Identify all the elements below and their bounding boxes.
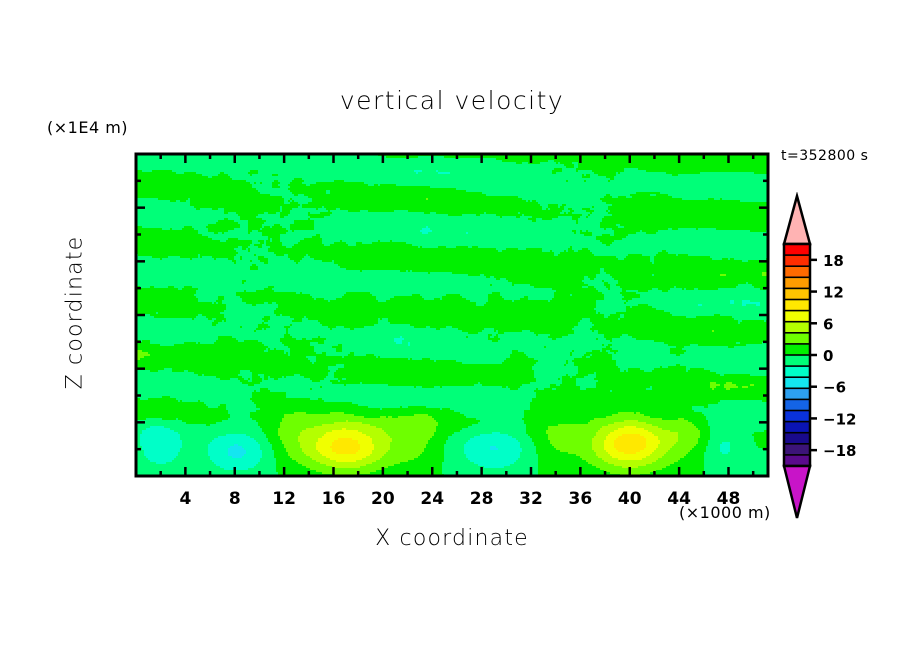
colorbar-tick-label: −6 [823, 379, 846, 397]
x-tick-label: 44 [667, 489, 691, 504]
x-tick-label: 32 [519, 489, 543, 504]
x-axis-unit-label: (×1000 m) [679, 503, 771, 522]
plot-axes: 481216202428323640444812345 [126, 144, 806, 504]
x-tick-label: 48 [717, 489, 741, 504]
x-axis-title: X coordinate [136, 526, 768, 551]
chart-title: vertical velocity [0, 86, 904, 115]
x-tick-label: 8 [229, 489, 241, 504]
colorbar-tick-label: 0 [823, 347, 833, 365]
x-tick-label: 28 [470, 489, 494, 504]
x-tick-label: 4 [179, 489, 191, 504]
figure-root: vertical velocity (×1E4 m) (×1000 m) t=3… [0, 0, 904, 654]
colorbar-tick-label: 6 [823, 315, 833, 333]
colorbar-tick-label: 12 [823, 284, 844, 302]
colorbar-tick-label: −18 [823, 442, 856, 460]
x-tick-label: 20 [371, 489, 395, 504]
x-tick-label: 24 [420, 489, 444, 504]
x-tick-label: 40 [618, 489, 642, 504]
colorbar: 181260−6−12−18 [776, 192, 896, 522]
x-tick-label: 36 [569, 489, 593, 504]
y-axis-title: Z coordinate [63, 213, 88, 413]
y-axis-unit-label: (×1E4 m) [47, 118, 128, 137]
colorbar-tick-label: −12 [823, 410, 856, 428]
x-tick-label: 16 [322, 489, 346, 504]
x-tick-label: 12 [272, 489, 296, 504]
colorbar-tick-label: 18 [823, 252, 844, 270]
